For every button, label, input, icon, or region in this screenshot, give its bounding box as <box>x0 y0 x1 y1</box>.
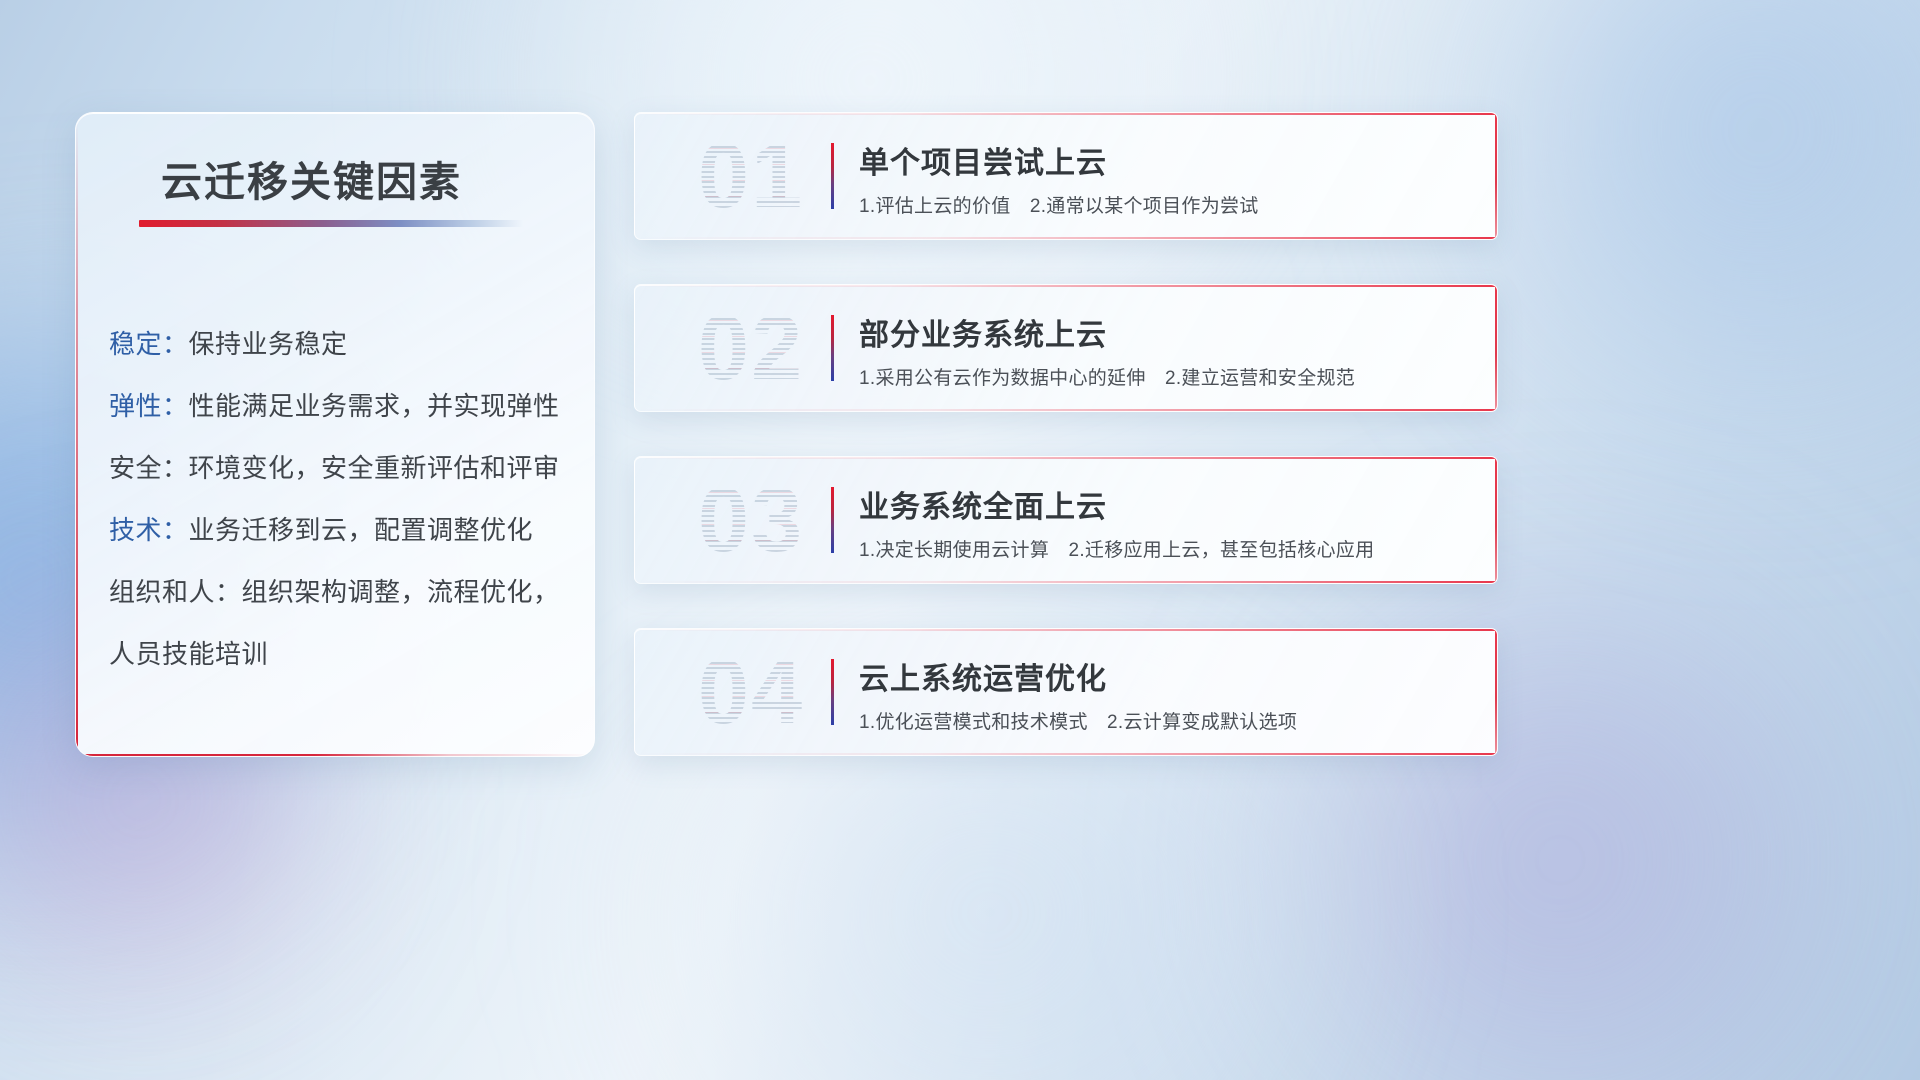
card-top-accent <box>635 113 1497 115</box>
accent-bar-icon <box>831 315 834 381</box>
card-bottom-accent <box>635 237 1497 239</box>
factor-value: 组织架构调整，流程优化， <box>242 577 560 607</box>
card-bottom-accent <box>635 409 1497 411</box>
accent-bar-icon <box>831 143 834 209</box>
list-item: 人员技能培训 <box>109 623 574 685</box>
card-right-accent <box>1495 457 1497 583</box>
slide-canvas: 云迁移关键因素 稳定：保持业务稳定 弹性：性能满足业务需求，并实现弹性 安全：环… <box>0 0 1920 1080</box>
stage-title: 业务系统全面上云 <box>859 482 1107 526</box>
stage-subtitle: 1.决定长期使用云计算 2.迁移应用上云，甚至包括核心应用 <box>859 535 1374 562</box>
card-top-accent <box>635 285 1497 287</box>
stage-number-watermark-tint: 01 <box>663 126 839 226</box>
table-row[interactable]: 03 03 业务系统全面上云 1.决定长期使用云计算 2.迁移应用上云，甚至包括… <box>634 456 1498 584</box>
card-bottom-accent <box>635 581 1497 583</box>
factor-value: 性能满足业务需求，并实现弹性 <box>189 391 560 421</box>
factor-key: 安全： <box>109 453 189 483</box>
card-bottom-accent <box>635 753 1497 755</box>
factor-value: 人员技能培训 <box>109 639 268 669</box>
accent-bar-icon <box>831 487 834 553</box>
title-underline-gradient <box>139 220 523 227</box>
list-item: 稳定：保持业务稳定 <box>109 313 574 375</box>
stage-number-watermark-tint: 04 <box>663 642 839 742</box>
card-top-accent <box>635 457 1497 459</box>
list-item: 安全：环境变化，安全重新评估和评审 <box>109 437 574 499</box>
list-item: 组织和人：组织架构调整，流程优化， <box>109 561 574 623</box>
page-title: 云迁移关键因素 <box>161 148 462 208</box>
key-factors-list: 稳定：保持业务稳定 弹性：性能满足业务需求，并实现弹性 安全：环境变化，安全重新… <box>109 313 574 685</box>
factor-key: 稳定： <box>109 329 189 359</box>
key-factors-panel: 云迁移关键因素 稳定：保持业务稳定 弹性：性能满足业务需求，并实现弹性 安全：环… <box>75 112 595 757</box>
stage-subtitle: 1.优化运营模式和技术模式 2.云计算变成默认选项 <box>859 707 1297 734</box>
stage-title: 部分业务系统上云 <box>859 310 1107 354</box>
card-right-accent <box>1495 113 1497 239</box>
list-item: 弹性：性能满足业务需求，并实现弹性 <box>109 375 574 437</box>
factor-value: 业务迁移到云，配置调整优化 <box>189 515 534 545</box>
stage-title: 单个项目尝试上云 <box>859 138 1107 182</box>
stage-number-watermark-tint: 02 <box>663 298 839 398</box>
stage-subtitle: 1.评估上云的价值 2.通常以某个项目作为尝试 <box>859 191 1259 218</box>
table-row[interactable]: 01 01 单个项目尝试上云 1.评估上云的价值 2.通常以某个项目作为尝试 <box>634 112 1498 240</box>
card-right-accent <box>1495 629 1497 755</box>
stage-subtitle: 1.采用公有云作为数据中心的延伸 2.建立运营和安全规范 <box>859 363 1355 390</box>
factor-key: 技术： <box>109 515 189 545</box>
stage-number-watermark-tint: 03 <box>663 470 839 570</box>
table-row[interactable]: 04 04 云上系统运营优化 1.优化运营模式和技术模式 2.云计算变成默认选项 <box>634 628 1498 756</box>
card-right-accent <box>1495 285 1497 411</box>
accent-bar-icon <box>831 659 834 725</box>
stage-title: 云上系统运营优化 <box>859 654 1107 698</box>
list-item: 技术：业务迁移到云，配置调整优化 <box>109 499 574 561</box>
factor-key: 组织和人： <box>109 577 242 607</box>
card-top-accent <box>635 629 1497 631</box>
stage-card-list: 01 01 单个项目尝试上云 1.评估上云的价值 2.通常以某个项目作为尝试 0… <box>634 112 1498 800</box>
factor-value: 环境变化，安全重新评估和评审 <box>189 453 560 483</box>
table-row[interactable]: 02 02 部分业务系统上云 1.采用公有云作为数据中心的延伸 2.建立运营和安… <box>634 284 1498 412</box>
factor-key: 弹性： <box>109 391 189 421</box>
factor-value: 保持业务稳定 <box>189 329 348 359</box>
